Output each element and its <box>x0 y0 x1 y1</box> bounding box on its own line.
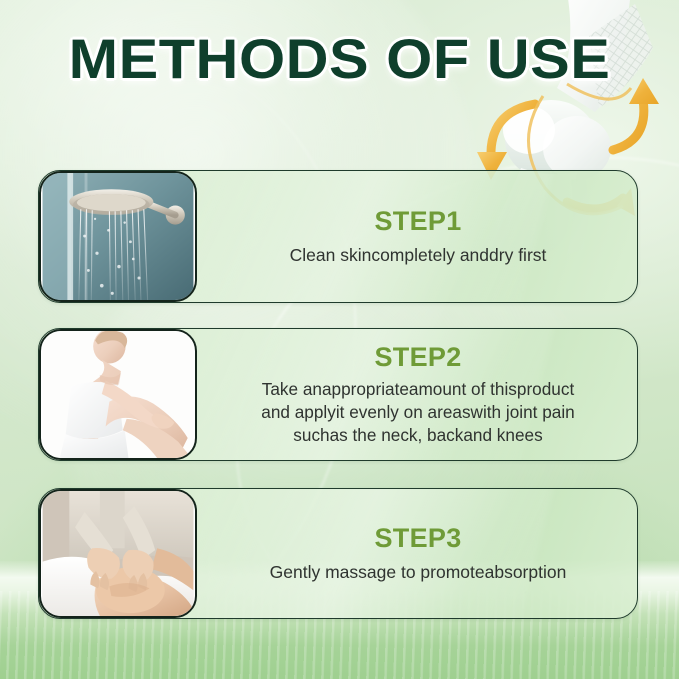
step-text-block: STEP1 Clean skincompletely anddry first <box>211 171 625 302</box>
step-card: STEP2 Take anappropriateamount of thispr… <box>38 328 638 461</box>
page-title: METHODS OF USE <box>0 30 679 89</box>
step-text-block: STEP2 Take anappropriateamount of thispr… <box>211 329 625 460</box>
step-card: STEP1 Clean skincompletely anddry first <box>38 170 638 303</box>
methods-of-use-poster: METHODS OF USE <box>0 0 679 679</box>
step-text-block: STEP3 Gently massage to promoteabsorptio… <box>211 489 625 618</box>
step-label: STEP3 <box>374 523 461 554</box>
step-label: STEP2 <box>374 342 461 373</box>
step-thumbnail-knee-massage <box>39 489 197 618</box>
step-thumbnail-shower <box>39 171 197 302</box>
step-description: Clean skincompletely anddry first <box>290 244 547 267</box>
step-card: STEP3 Gently massage to promoteabsorptio… <box>38 488 638 619</box>
step-description: Gently massage to promoteabsorption <box>270 561 567 584</box>
step-thumbnail-leg-application <box>39 329 197 460</box>
step-description: Take anappropriateamount of thisproduct … <box>261 378 574 447</box>
step-label: STEP1 <box>374 206 461 237</box>
